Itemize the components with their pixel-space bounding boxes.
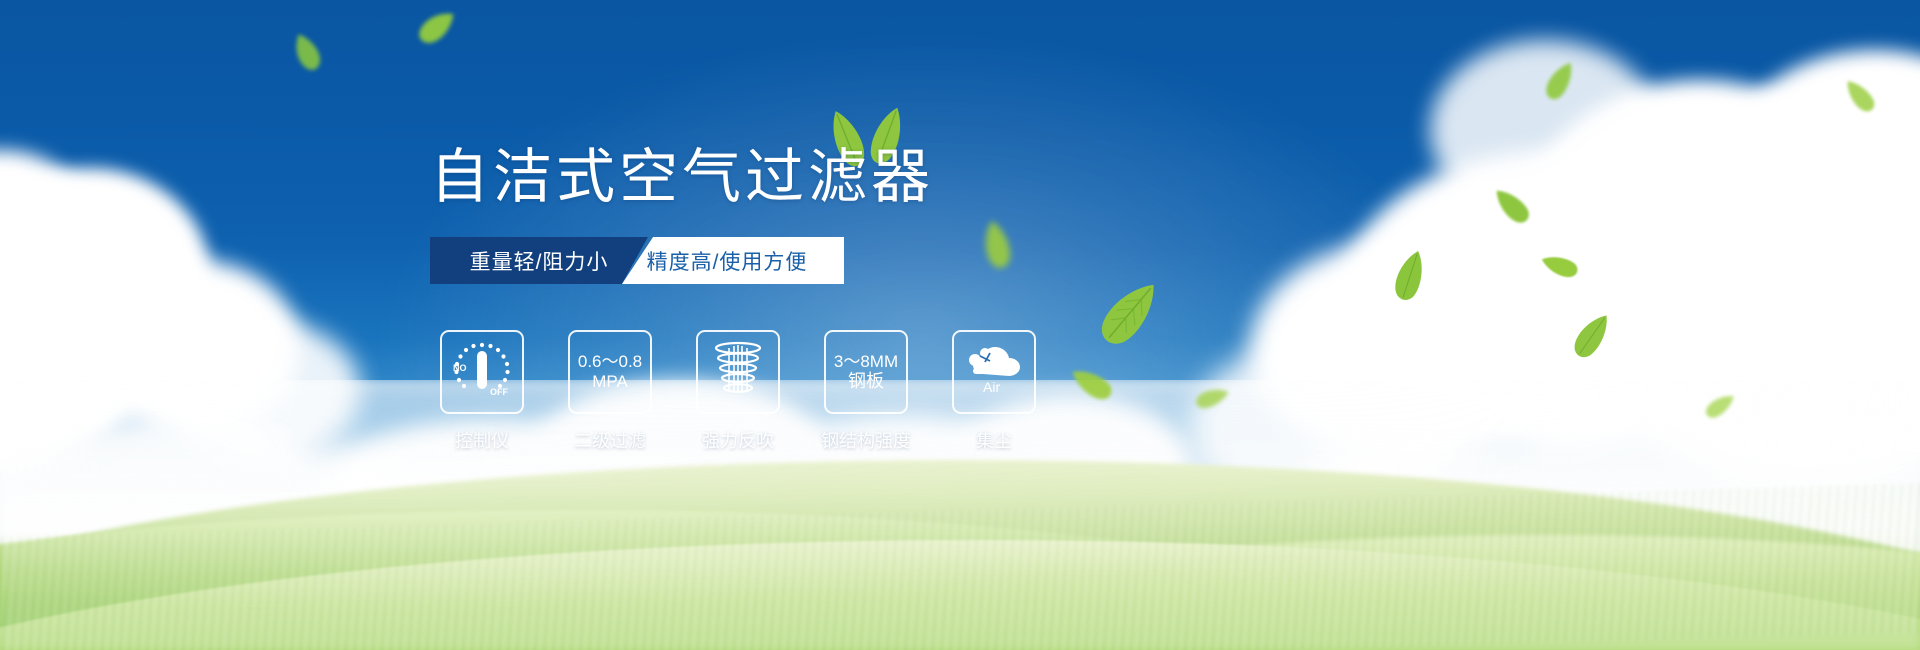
feature-item: 强力反吹: [696, 330, 780, 453]
tag-precision-easyuse: 精度高/使用方便: [622, 237, 844, 284]
tag-row: 重量轻/阻力小 精度高/使用方便: [430, 237, 844, 284]
banner-image: 自洁式空气过滤器 重量轻/阻力小 精度高/使用方便: [0, 0, 1920, 650]
feature-label: 控制仪: [455, 427, 509, 453]
feature-label: 二级过滤: [574, 427, 646, 453]
feature-icon-box: [696, 330, 780, 414]
feature-icon-box: 0.6～0.8 MPA: [568, 330, 652, 414]
pressure-unit: MPA: [578, 372, 642, 392]
tag-lightweight-lowresistance: 重量轻/阻力小: [430, 237, 648, 284]
svg-text:NO: NO: [453, 363, 467, 373]
feature-item: NO OFF 控制仪: [440, 330, 524, 453]
dust-air-text: Air: [983, 379, 1000, 395]
feature-item: Air 集尘: [952, 330, 1036, 453]
feature-label: 集尘: [976, 427, 1012, 453]
steel-material: 钢板: [834, 371, 898, 392]
steel-thickness: 3～8MM: [834, 352, 898, 372]
feature-icon-box: NO OFF: [440, 330, 524, 414]
feature-row: NO OFF 控制仪 0.6～0.8 MPA 二级过滤: [440, 330, 1036, 453]
blowback-coil-icon: [711, 340, 765, 403]
feature-label: 钢结构强度: [821, 427, 911, 453]
feature-icon-box: Air: [952, 330, 1036, 414]
control-dial-icon: NO OFF: [449, 339, 515, 404]
pressure-value: 0.6～0.8: [578, 352, 642, 372]
feature-label: 强力反吹: [702, 427, 774, 453]
svg-text:OFF: OFF: [490, 387, 508, 397]
feature-item: 3～8MM 钢板 钢结构强度: [824, 330, 908, 453]
dust-cloud-icon: Air: [963, 340, 1025, 403]
pressure-text-icon: 0.6～0.8 MPA: [578, 352, 642, 391]
page-title: 自洁式空气过滤器: [430, 129, 934, 214]
feature-item: 0.6～0.8 MPA 二级过滤: [568, 330, 652, 453]
banner-content: 自洁式空气过滤器 重量轻/阻力小 精度高/使用方便: [0, 0, 1920, 650]
feature-icon-box: 3～8MM 钢板: [824, 330, 908, 414]
steel-plate-text-icon: 3～8MM 钢板: [834, 352, 898, 392]
